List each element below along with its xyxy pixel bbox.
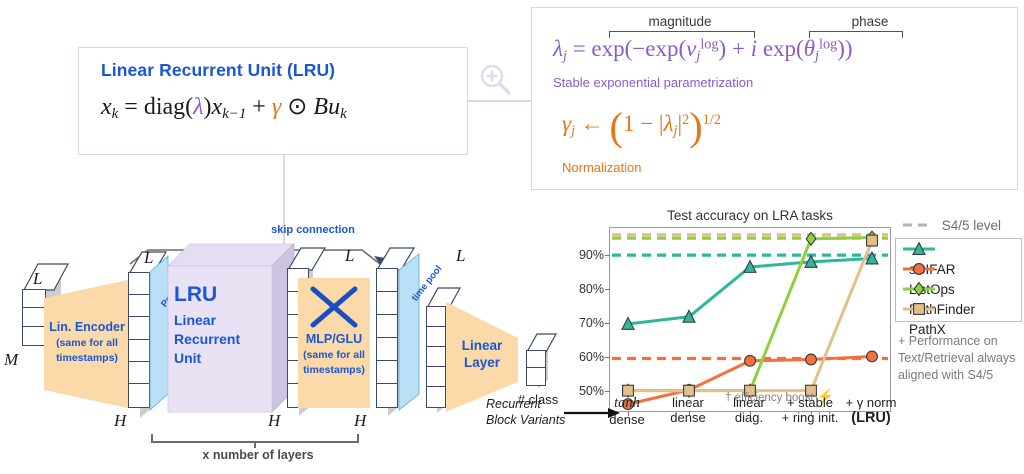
linear-encoder-label: Lin. Encoder (same for all timestamps) bbox=[44, 320, 130, 365]
legend-item-listops[interactable]: ListOps bbox=[902, 260, 955, 281]
connector-line-horizontal bbox=[468, 100, 531, 102]
tensor3 bbox=[376, 268, 398, 408]
tensor1 bbox=[128, 272, 150, 408]
y-tick-mark bbox=[605, 391, 610, 392]
dim-label-L-2: L bbox=[345, 246, 354, 266]
legend-swatch bbox=[902, 280, 936, 298]
legend-item-pathx[interactable]: PathX bbox=[902, 300, 946, 321]
arrow-right-icon bbox=[564, 407, 620, 419]
skip-connection-label: skip connection bbox=[248, 224, 378, 237]
dim-label-L-3: L bbox=[456, 246, 465, 266]
mlp-glu-label: MLP/GLU (same for all timestamps) bbox=[298, 332, 370, 377]
chart-title: Test accuracy on LRA tasks bbox=[609, 208, 891, 223]
lra-accuracy-chart: Test accuracy on LRA tasks 50%60%70%80%9… bbox=[580, 205, 1024, 474]
dim-label-M: M bbox=[4, 350, 18, 370]
chart-series-svg bbox=[610, 228, 890, 411]
class-output-cube bbox=[526, 350, 546, 386]
legend-swatch bbox=[902, 240, 936, 258]
legend-note: + Performance on Text/Retrieval always a… bbox=[898, 333, 1022, 384]
page-title: Linear Recurrent Unit (LRU) bbox=[101, 60, 335, 81]
y-tick-mark bbox=[605, 323, 610, 324]
phase-label: phase bbox=[815, 14, 925, 29]
dim-label-H-2: H bbox=[268, 411, 280, 431]
x-number-of-layers-label: x number of layers bbox=[158, 448, 358, 462]
x-tick-label: + γ norm(LRU) bbox=[832, 395, 910, 427]
legend-swatch bbox=[902, 300, 936, 318]
legend-swatch bbox=[902, 260, 936, 278]
magnitude-label: magnitude bbox=[620, 14, 740, 29]
normalization-caption: Normalization bbox=[562, 160, 641, 175]
s4-dashed-swatch bbox=[902, 220, 932, 230]
y-tick-label: 60% bbox=[579, 350, 604, 364]
legend-item-scifar[interactable]: sCIFAR bbox=[902, 240, 956, 261]
architecture-diagram: skip connection x number of layers L M L… bbox=[0, 212, 580, 474]
gamma-normalization-equation: γj ← (1 − |λj|2)1/2 bbox=[562, 103, 721, 150]
y-tick-mark bbox=[605, 289, 610, 290]
linear-layer-label: Linear Layer bbox=[446, 338, 518, 372]
input-tensor bbox=[22, 289, 46, 346]
y-tick-label: 90% bbox=[579, 248, 604, 262]
y-tick-label: 70% bbox=[579, 316, 604, 330]
lru-block-name: Linear Recurrent Unit bbox=[174, 311, 270, 368]
y-tick-label: 80% bbox=[579, 282, 604, 296]
dim-label-L-input: L bbox=[33, 269, 42, 289]
legend-item-pathfinder[interactable]: PathFinder bbox=[902, 280, 975, 301]
y-tick-mark bbox=[605, 255, 610, 256]
legend-s4-level-entry: S4/5 level bbox=[902, 217, 1001, 233]
recurrent-block-variants-label: Recurrent Block Variants bbox=[486, 397, 565, 428]
dim-label-H-1: H bbox=[114, 411, 126, 431]
mlp-cross-icon bbox=[310, 286, 358, 328]
dim-label-H-3: H bbox=[354, 411, 366, 431]
y-tick-mark bbox=[605, 357, 610, 358]
pooled-vector bbox=[426, 306, 446, 408]
time-pool-slab bbox=[399, 254, 427, 410]
lru-summary-card: Linear Recurrent Unit (LRU) xk = diag(λ)… bbox=[78, 47, 468, 155]
chart-legend: sCIFARListOpsPathFinderPathX bbox=[895, 238, 1022, 322]
zoom-in-magnifier-icon bbox=[478, 62, 514, 98]
lambda-parametrization-equation: λj = exp(−exp(νjlog) + i exp(θjlog)) bbox=[553, 36, 853, 65]
lru-recurrence-equation: xk = diag(λ)xk−1 + γ ⊙ Buk bbox=[101, 92, 347, 123]
chart-plot-area: 50%60%70%80%90% † efficiency boost ⚡ bbox=[609, 227, 891, 412]
stable-parametrization-caption: Stable exponential parametrization bbox=[553, 75, 753, 90]
lru-block-acronym: LRU bbox=[174, 284, 270, 305]
